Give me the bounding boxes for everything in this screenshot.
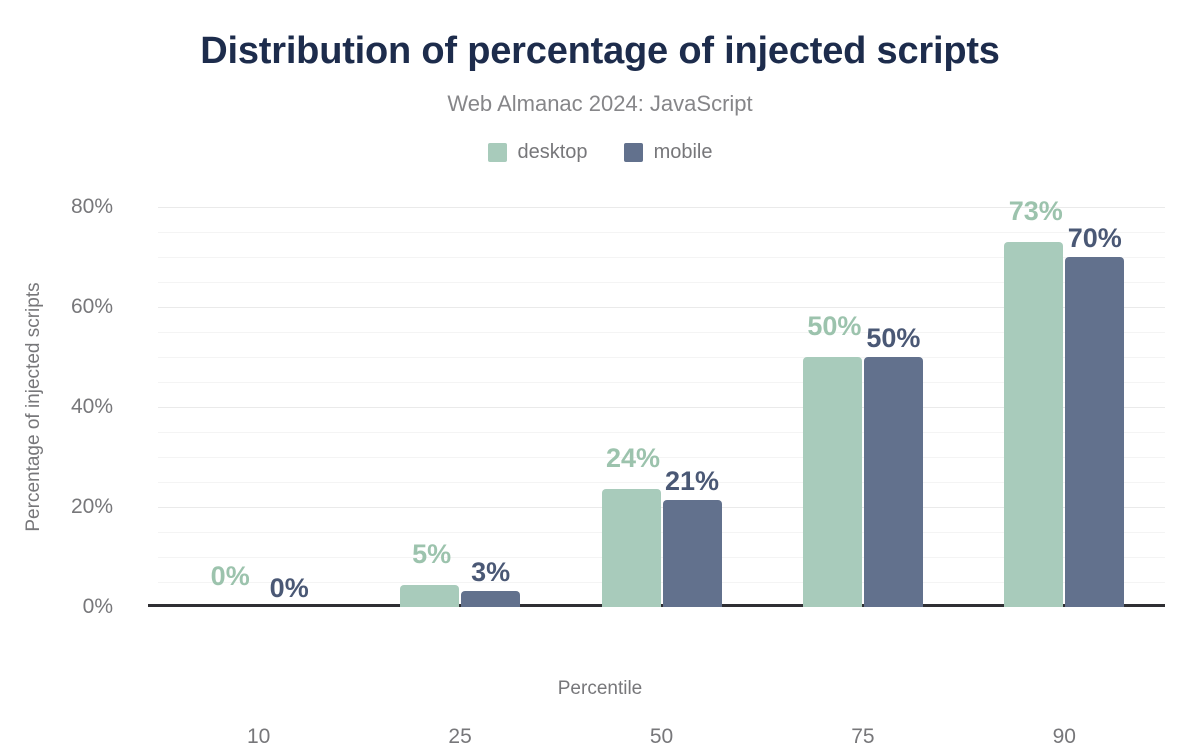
bar-desktop-90[interactable] <box>1004 242 1063 607</box>
x-tick-label: 90 <box>984 725 1144 749</box>
bar-label-desktop-50: 24% <box>606 443 660 474</box>
chart-title: Distribution of percentage of injected s… <box>0 30 1200 73</box>
bar-mobile-25[interactable] <box>461 591 520 608</box>
bar-label-desktop-75: 50% <box>807 311 861 342</box>
bar-label-mobile-75: 50% <box>866 323 920 354</box>
bar-label-mobile-25: 3% <box>471 557 510 588</box>
y-tick-label: 80% <box>0 195 113 219</box>
bar-mobile-75[interactable] <box>864 357 923 607</box>
bar-chart: Distribution of percentage of injected s… <box>0 0 1200 742</box>
gridline <box>158 232 1165 233</box>
bar-desktop-50[interactable] <box>602 489 661 608</box>
bar-mobile-50[interactable] <box>663 500 722 608</box>
bar-desktop-25[interactable] <box>400 585 459 608</box>
bar-label-mobile-50: 21% <box>665 466 719 497</box>
bar-label-desktop-10: 0% <box>211 561 250 592</box>
x-tick-label: 75 <box>783 725 943 749</box>
y-tick-label: 0% <box>0 595 113 619</box>
x-tick-label: 25 <box>380 725 540 749</box>
x-axis-title: Percentile <box>0 678 1200 700</box>
y-tick-label: 40% <box>0 395 113 419</box>
bar-label-mobile-10: 0% <box>270 573 309 604</box>
bar-label-mobile-90: 70% <box>1068 223 1122 254</box>
x-tick-label: 50 <box>582 725 742 749</box>
y-tick-label: 60% <box>0 295 113 319</box>
plot-area: 0%20%40%60%80%100%0%255%3%5024%21%7550%5… <box>158 107 1165 607</box>
y-tick-label: 20% <box>0 495 113 519</box>
bar-desktop-75[interactable] <box>803 357 862 607</box>
bar-label-desktop-90: 73% <box>1009 196 1063 227</box>
bar-label-desktop-25: 5% <box>412 539 451 570</box>
bar-mobile-90[interactable] <box>1065 257 1124 607</box>
x-tick-label: 10 <box>179 725 339 749</box>
